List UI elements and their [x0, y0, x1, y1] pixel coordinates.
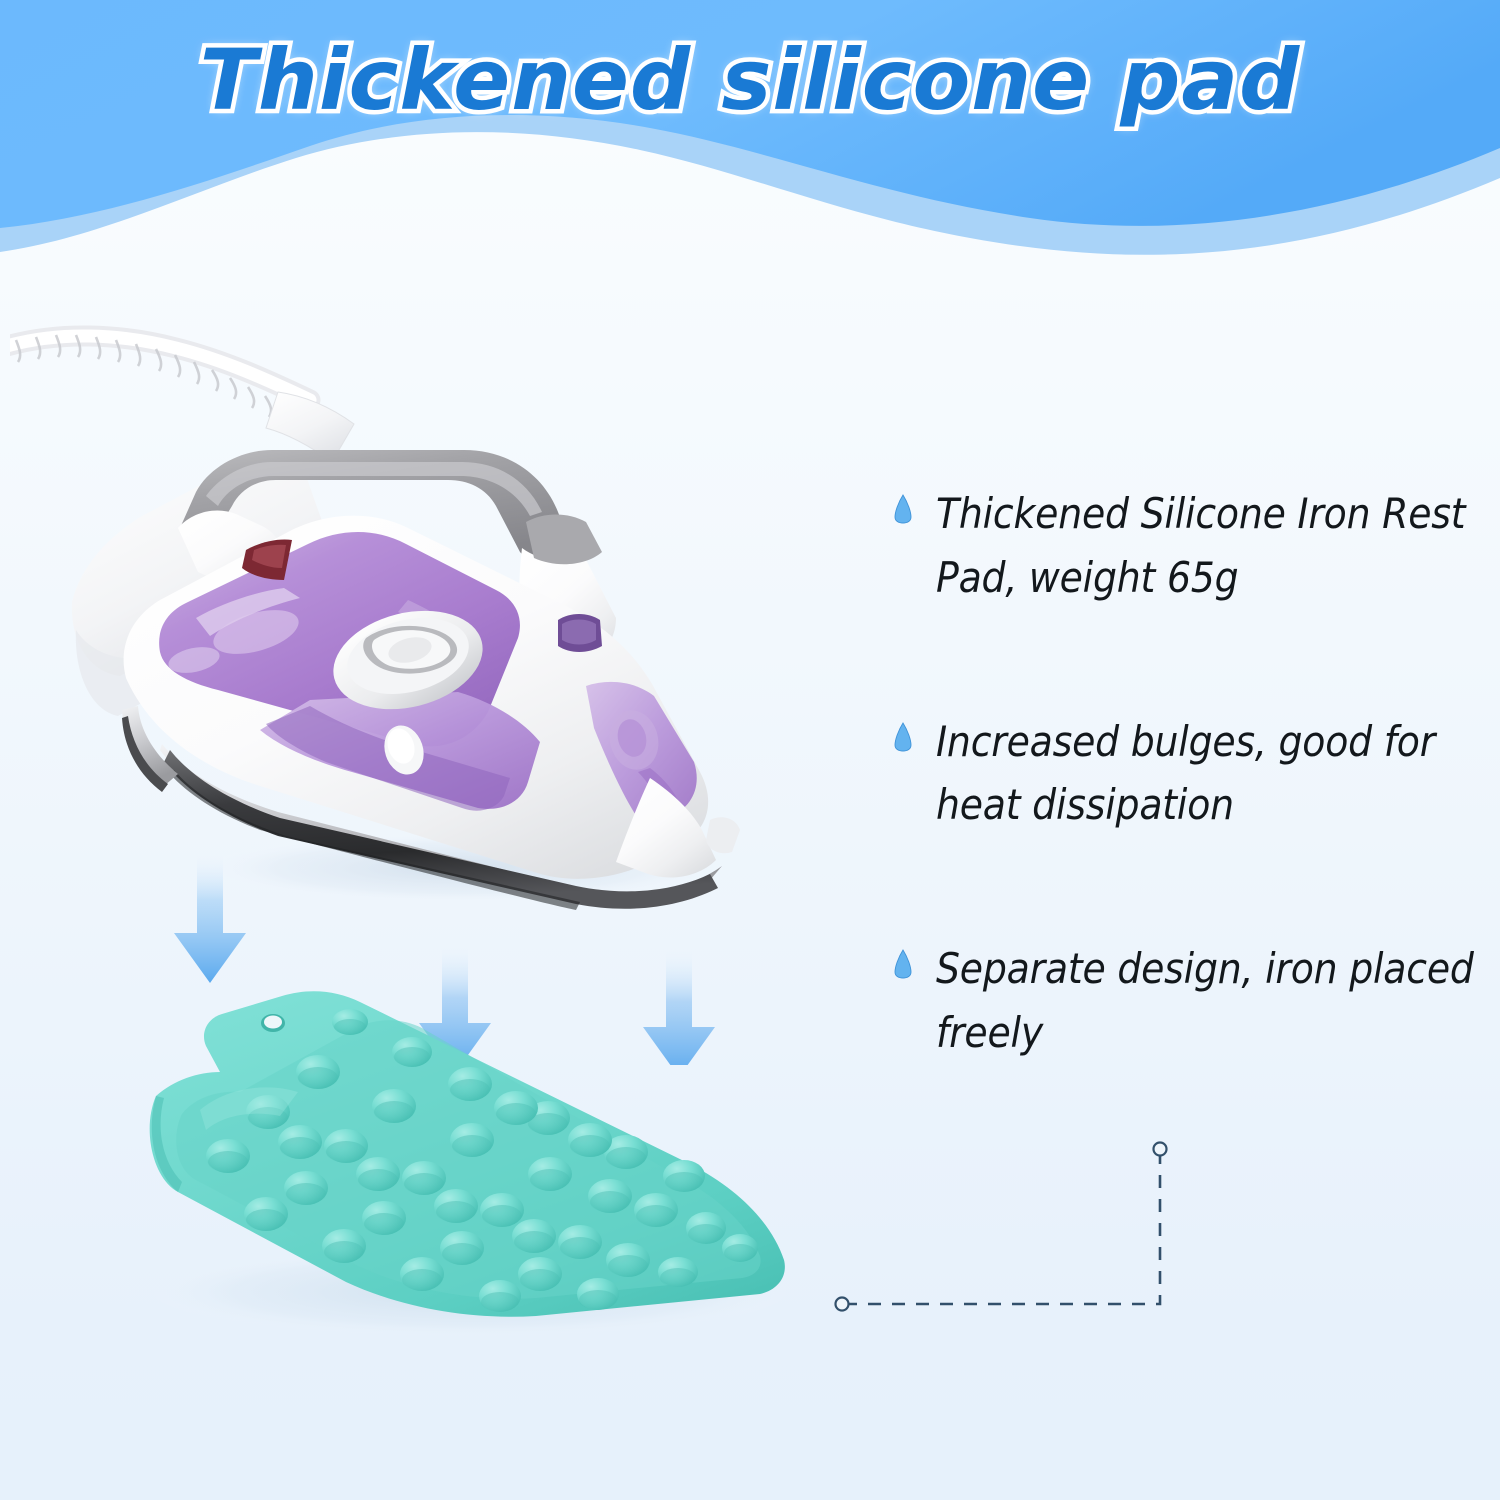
product-infographic-poster: Thickened silicone pad — [0, 0, 1500, 1500]
header-wave-band: Thickened silicone pad — [0, 0, 1500, 270]
feature-label-3: Separate design, iron placed freely — [936, 937, 1478, 1065]
feature-label-2: Increased bulges, good for heat dissipat… — [936, 710, 1478, 838]
feature-label-1: Thickened Silicone Iron Rest Pad, weight… — [936, 482, 1478, 610]
wave-main-layer — [0, 0, 1500, 228]
callout-endpoint-start — [836, 1298, 849, 1311]
iron-soleplate-bullet-icon — [893, 722, 913, 752]
pad-hang-hole — [261, 1014, 285, 1032]
callout-dashed-line — [844, 1152, 1160, 1304]
iron-soleplate-bullet-icon — [893, 494, 913, 524]
iron-soleplate-bullet-icon — [893, 949, 913, 979]
feature-item-2: Increased bulges, good for heat dissipat… — [893, 710, 1478, 838]
silicone-pad-image — [50, 960, 910, 1350]
feature-list: Thickened Silicone Iron Rest Pad, weight… — [893, 482, 1478, 1065]
steam-iron-image — [10, 300, 850, 940]
feature-item-3: Separate design, iron placed freely — [893, 937, 1478, 1065]
power-cord — [10, 335, 310, 426]
callout-endpoint-end — [1154, 1143, 1167, 1156]
dimension-callout — [820, 1120, 1240, 1330]
steam-burst-button — [526, 515, 602, 565]
feature-item-1: Thickened Silicone Iron Rest Pad, weight… — [893, 482, 1478, 610]
side-latch — [706, 817, 740, 853]
